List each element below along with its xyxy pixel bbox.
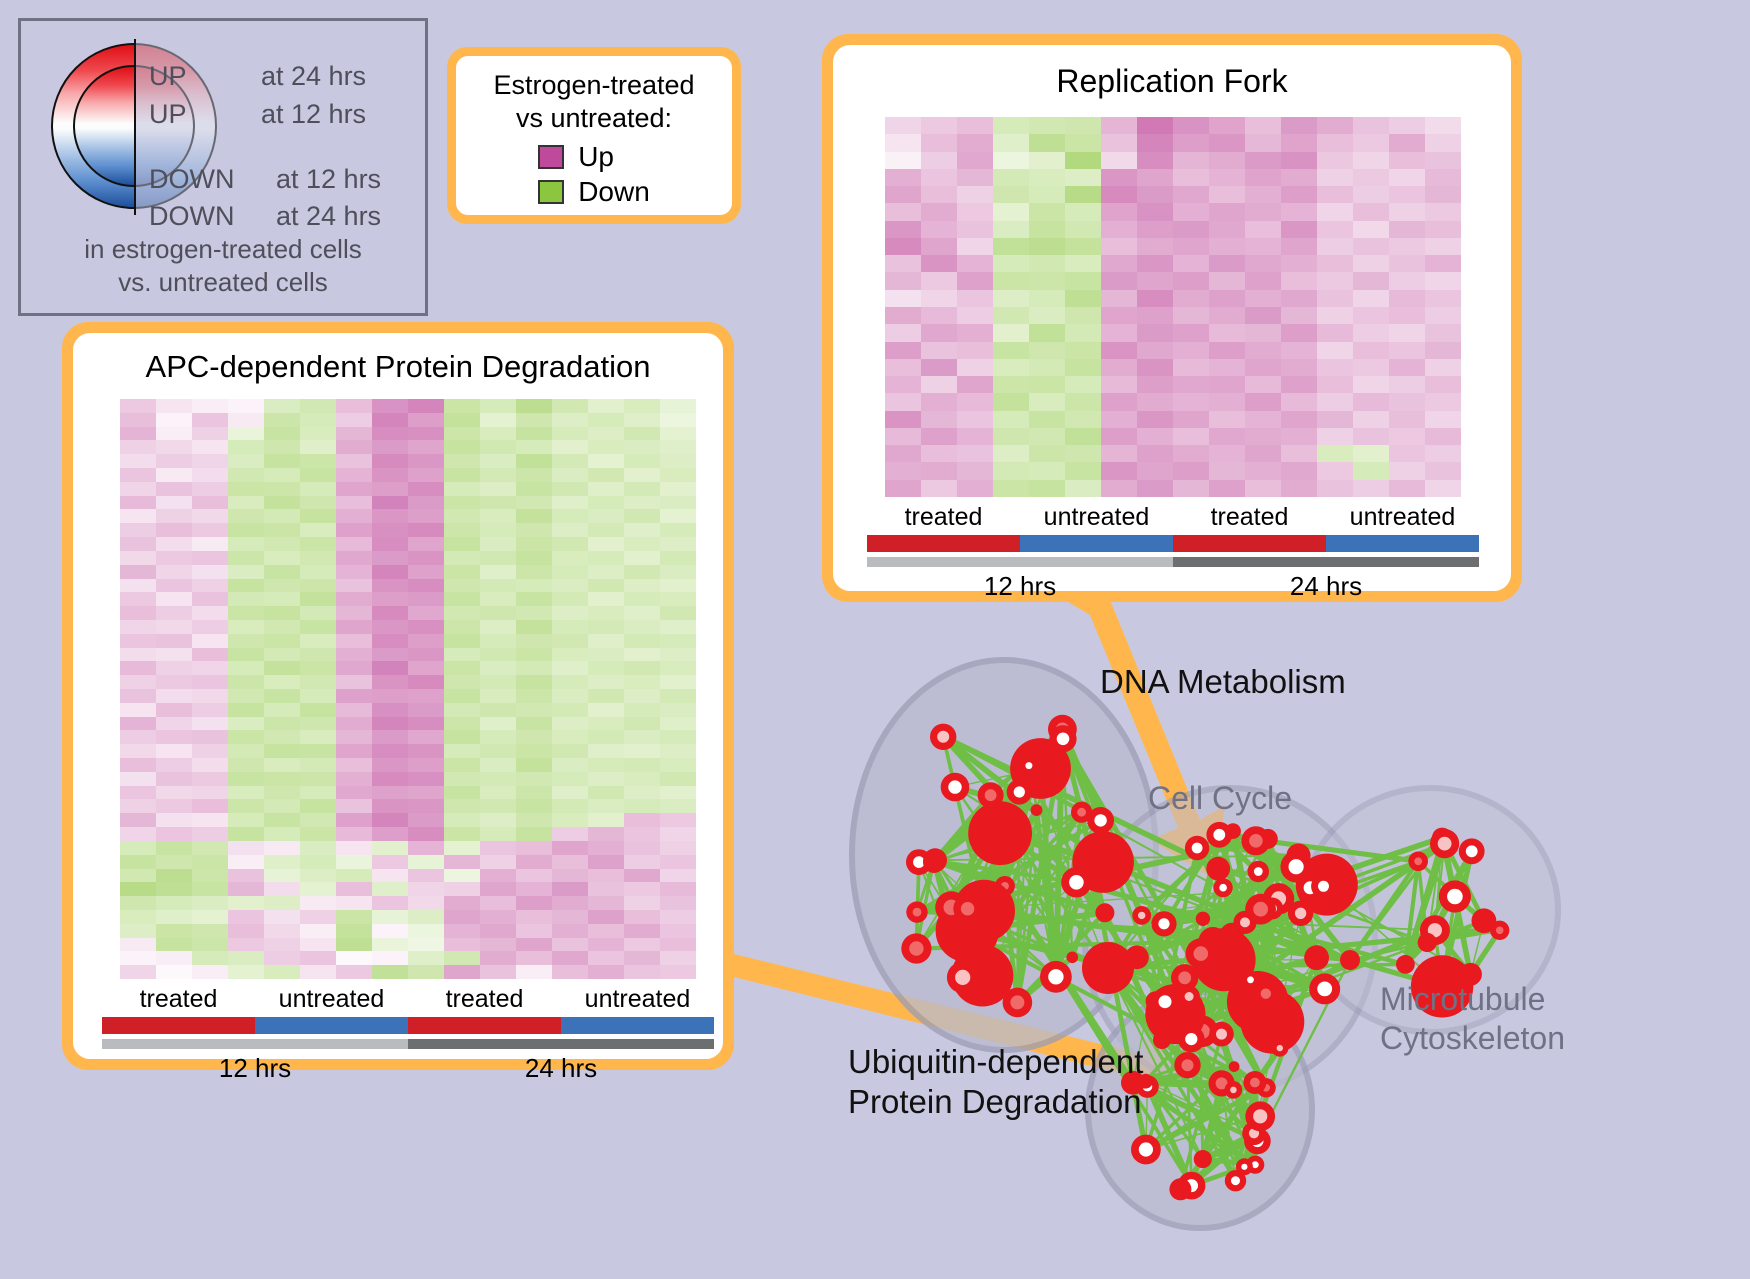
heatmap-cell — [1317, 134, 1353, 151]
heatmap-cell — [624, 620, 660, 634]
heatmap-cell — [588, 910, 624, 924]
heatmap-cell — [156, 717, 192, 731]
heatmap-cell — [552, 648, 588, 662]
heatmap-cell — [624, 855, 660, 869]
heatmap-cell — [372, 675, 408, 689]
heatmap-cell — [120, 579, 156, 593]
heatmap-cell — [1065, 272, 1101, 289]
heatmap-cell — [120, 399, 156, 413]
heatmap-cell — [408, 772, 444, 786]
heatmap-cell — [444, 551, 480, 565]
heatmap-cell — [264, 496, 300, 510]
network-node-core — [1414, 857, 1422, 865]
heatmap-cell — [264, 841, 300, 855]
heatmap-cell — [1029, 117, 1065, 134]
heatmap-cell — [552, 551, 588, 565]
network-node-core — [1216, 1029, 1227, 1040]
heatmap-cell — [516, 965, 552, 979]
heatmap-cell — [1245, 480, 1281, 497]
heatmap-cell — [660, 661, 696, 675]
heatmap-cell — [1317, 152, 1353, 169]
heatmap-cell — [372, 413, 408, 427]
heatmap-cell — [120, 869, 156, 883]
heatmap-cell — [552, 427, 588, 441]
heatmap-cell — [1245, 342, 1281, 359]
heatmap-cell — [1245, 411, 1281, 428]
heatmap-cell — [444, 579, 480, 593]
heatmap-cell — [480, 758, 516, 772]
heatmap-cell — [516, 786, 552, 800]
heatmap-cell — [120, 813, 156, 827]
heatmap-cell — [1281, 480, 1317, 497]
heatmap-cell — [660, 454, 696, 468]
heatmap-cell — [516, 399, 552, 413]
heatmap-cell — [624, 675, 660, 689]
heatmap-cell — [1425, 393, 1461, 410]
heatmap-cell — [408, 938, 444, 952]
heatmap-cell — [156, 965, 192, 979]
apc-col-3: untreated — [561, 985, 714, 1014]
heatmap-cell — [156, 924, 192, 938]
rf-bar-0 — [867, 535, 1020, 552]
heatmap-cell — [921, 480, 957, 497]
heatmap-cell — [660, 813, 696, 827]
heatmap-cell — [192, 869, 228, 883]
network-node-core — [1230, 1087, 1237, 1094]
heatmap-cell — [1137, 238, 1173, 255]
heatmap-cell — [480, 509, 516, 523]
heatmap-cell — [1317, 393, 1353, 410]
heatmap-cell — [1389, 462, 1425, 479]
heatmap-cell — [264, 744, 300, 758]
heatmap-cell — [588, 440, 624, 454]
heatmap-cell — [1317, 255, 1353, 272]
heatmap-cell — [1173, 186, 1209, 203]
heatmap-cell — [957, 411, 993, 428]
heatmap-cell — [1065, 393, 1101, 410]
heatmap-cell — [480, 620, 516, 634]
heatmap-cell — [120, 717, 156, 731]
heatmap-cell — [993, 480, 1029, 497]
heatmap-cell — [156, 482, 192, 496]
heatmap-cell — [192, 427, 228, 441]
heatmap-cell — [480, 965, 516, 979]
heatmap-cell — [552, 799, 588, 813]
heatmap-cell — [444, 758, 480, 772]
network-node — [1169, 1178, 1191, 1200]
heatmap-cell — [264, 799, 300, 813]
legend-key-up: Up — [538, 141, 650, 173]
heatmap-cell — [192, 717, 228, 731]
heatmap-cell — [1101, 393, 1137, 410]
heatmap-cell — [624, 910, 660, 924]
heatmap-cell — [156, 551, 192, 565]
column-names-apc: treated untreated treated untreated — [102, 985, 714, 1014]
ubiquitin-label-line1: Ubiquitin-dependent — [848, 1042, 1143, 1082]
heatmap-cell — [1245, 134, 1281, 151]
heatmap-cell — [444, 468, 480, 482]
heatmap-cell — [300, 496, 336, 510]
heatmap-cell — [993, 169, 1029, 186]
heatmap-cell — [264, 606, 300, 620]
heatmap-cell — [336, 675, 372, 689]
heatmap-cell — [1101, 186, 1137, 203]
rf-time-1: 24 hrs — [1173, 571, 1479, 602]
heatmap-cell — [552, 910, 588, 924]
heatmap-cell — [444, 661, 480, 675]
heatmap-cell — [120, 896, 156, 910]
heatmap-cell — [885, 428, 921, 445]
heatmap-cell — [552, 717, 588, 731]
heatmap-cell — [120, 496, 156, 510]
heatmap-cell — [120, 799, 156, 813]
heatmap-cell — [1029, 428, 1065, 445]
heatmap-cell — [1281, 359, 1317, 376]
network-node — [1304, 945, 1329, 970]
heatmap-cell — [372, 758, 408, 772]
heatmap-cell — [192, 468, 228, 482]
heatmap-cell — [300, 855, 336, 869]
heatmap-cell — [516, 468, 552, 482]
heatmap-cell — [408, 855, 444, 869]
heatmap-cell — [300, 592, 336, 606]
heatmap-cell — [120, 413, 156, 427]
network-node-core — [1057, 733, 1070, 746]
heatmap-cell — [588, 620, 624, 634]
heatmap-cell — [1245, 428, 1281, 445]
heatmap-cell — [1425, 324, 1461, 341]
heatmap-cell — [1173, 376, 1209, 393]
heatmap-cell — [552, 454, 588, 468]
heatmap-cell — [1353, 411, 1389, 428]
heatmap-cell — [372, 799, 408, 813]
heatmap-cell — [300, 454, 336, 468]
heatmap-cell — [1281, 411, 1317, 428]
heatmap-cell — [1065, 480, 1101, 497]
heatmap-cell — [408, 482, 444, 496]
network-node-core — [1253, 1109, 1267, 1123]
heatmap-cell — [588, 509, 624, 523]
heatmap-cell — [264, 592, 300, 606]
heatmap-cell — [885, 290, 921, 307]
heatmap-cell — [1353, 342, 1389, 359]
heatmap-cell — [1137, 117, 1173, 134]
heatmap-cell — [120, 523, 156, 537]
heatmap-cell — [120, 910, 156, 924]
heatmap-cell — [993, 324, 1029, 341]
heatmap-cell — [408, 965, 444, 979]
heatmap-cell — [1425, 255, 1461, 272]
heatmap-cell — [624, 689, 660, 703]
heatmap-cell — [1425, 152, 1461, 169]
heatmap-cell — [156, 496, 192, 510]
heatmap-cell — [480, 427, 516, 441]
heatmap-cell — [1389, 376, 1425, 393]
up-down-legend: Estrogen-treated vs untreated: Up Down — [447, 47, 741, 224]
heatmap-cell — [336, 413, 372, 427]
network-node — [1340, 950, 1360, 970]
heatmap-cell — [660, 703, 696, 717]
heatmap-cell — [993, 272, 1029, 289]
heatmap-cell — [120, 730, 156, 744]
heatmap-cell — [1317, 342, 1353, 359]
heatmap-cell — [993, 428, 1029, 445]
heatmap-cell — [1245, 117, 1281, 134]
heatmap-cell — [957, 428, 993, 445]
network-node-core — [1250, 1078, 1260, 1088]
network-node-core — [1077, 808, 1086, 817]
network-node-core — [1289, 859, 1304, 874]
heatmap-cell — [552, 827, 588, 841]
heatmap-cell — [921, 428, 957, 445]
heatmap-cell — [1065, 307, 1101, 324]
heatmap-cell — [120, 772, 156, 786]
heatmap-cell — [660, 772, 696, 786]
heatmap-cell — [1209, 238, 1245, 255]
heatmap-cell — [156, 841, 192, 855]
heatmap-cell — [264, 689, 300, 703]
heatmap-cell — [408, 827, 444, 841]
heatmap-cell — [264, 427, 300, 441]
heatmap-cell — [480, 523, 516, 537]
heatmap-cell — [1389, 203, 1425, 220]
heatmap-cell — [120, 454, 156, 468]
heatmap-cell — [372, 606, 408, 620]
heatmap-cell — [1137, 152, 1173, 169]
heatmap-apc-dependent-protein-degradation — [120, 399, 696, 979]
heatmap-cell — [228, 509, 264, 523]
heatmap-cell — [264, 827, 300, 841]
heatmap-cell — [624, 454, 660, 468]
heatmap-cell — [228, 399, 264, 413]
heatmap-cell — [300, 786, 336, 800]
heatmap-cell — [1173, 134, 1209, 151]
heatmap-cell — [1029, 238, 1065, 255]
heatmap-cell — [1317, 238, 1353, 255]
heatmap-cell — [372, 468, 408, 482]
heatmap-cell — [552, 786, 588, 800]
heatmap-cell — [1281, 238, 1317, 255]
heatmap-cell — [1209, 480, 1245, 497]
heatmap-cell — [480, 910, 516, 924]
heatmap-cell — [957, 342, 993, 359]
heatmap-cell — [156, 509, 192, 523]
heatmap-cell — [885, 376, 921, 393]
heatmap-cell — [300, 509, 336, 523]
heatmap-cell — [516, 799, 552, 813]
heatmap-cell — [300, 413, 336, 427]
heatmap-cell — [480, 537, 516, 551]
timepoint-labels-replication-fork: 12 hrs 24 hrs — [867, 571, 1479, 602]
network-node-core — [1249, 834, 1263, 848]
heatmap-cell — [336, 689, 372, 703]
heatmap-cell — [444, 634, 480, 648]
microtubule-label-line2: Cytoskeleton — [1380, 1019, 1565, 1058]
heatmap-cell — [552, 606, 588, 620]
heatmap-cell — [1173, 152, 1209, 169]
heatmap-cell — [660, 799, 696, 813]
heatmap-cell — [660, 620, 696, 634]
heatmap-cell — [921, 169, 957, 186]
heatmap-cell — [120, 938, 156, 952]
heatmap-cell — [516, 648, 552, 662]
heatmap-cell — [552, 413, 588, 427]
heatmap-cell — [957, 152, 993, 169]
cluster-label-ubiquitin-dependent-protein-degradation: Ubiquitin-dependent Protein Degradation — [848, 1042, 1143, 1123]
heatmap-cell — [336, 606, 372, 620]
heatmap-cell — [192, 896, 228, 910]
heatmap-cell — [993, 221, 1029, 238]
heatmap-cell — [1209, 411, 1245, 428]
heatmap-cell — [588, 537, 624, 551]
heatmap-cell — [1317, 203, 1353, 220]
heatmap-cell — [336, 537, 372, 551]
heatmap-cell — [444, 799, 480, 813]
heatmap-cell — [336, 592, 372, 606]
heatmap-cell — [516, 509, 552, 523]
heatmap-cell — [480, 951, 516, 965]
heatmap-cell — [1353, 393, 1389, 410]
heatmap-cell — [444, 896, 480, 910]
heatmap-cell — [660, 744, 696, 758]
heatmap-cell — [372, 938, 408, 952]
heatmap-cell — [408, 910, 444, 924]
down-color-swatch — [538, 180, 564, 204]
heatmap-cell — [480, 703, 516, 717]
heatmap-cell — [192, 592, 228, 606]
heatmap-cell — [192, 965, 228, 979]
heatmap-cell — [588, 799, 624, 813]
heatmap-cell — [228, 482, 264, 496]
heatmap-cell — [408, 413, 444, 427]
heatmap-cell — [660, 606, 696, 620]
heatmap-cell — [588, 869, 624, 883]
heatmap-cell — [624, 413, 660, 427]
heatmap-cell — [480, 938, 516, 952]
heatmap-cell — [264, 717, 300, 731]
heatmap-cell — [921, 255, 957, 272]
heatmap-cell — [1317, 428, 1353, 445]
heatmap-cell — [192, 841, 228, 855]
heatmap-cell — [444, 427, 480, 441]
network-node — [1067, 952, 1079, 964]
network-node-core — [1219, 884, 1227, 892]
heatmap-cell — [300, 924, 336, 938]
heatmap-cell — [660, 675, 696, 689]
heatmap-cell — [1029, 342, 1065, 359]
heatmap-cell — [516, 661, 552, 675]
scale-row-3-time: at 24 hrs — [276, 201, 381, 232]
heatmap-cell — [408, 882, 444, 896]
heatmap-cell — [156, 786, 192, 800]
heatmap-cell — [660, 758, 696, 772]
apc-time-bar-1 — [408, 1039, 714, 1049]
heatmap-cell — [336, 951, 372, 965]
heatmap-cell — [1173, 238, 1209, 255]
heatmap-cell — [228, 579, 264, 593]
rf-time-bar-0 — [867, 557, 1173, 567]
heatmap-cell — [300, 896, 336, 910]
heatmap-cell — [921, 359, 957, 376]
heatmap-cell — [1389, 393, 1425, 410]
heatmap-cell — [1317, 221, 1353, 238]
heatmap-cell — [588, 413, 624, 427]
network-node-core — [1010, 995, 1024, 1009]
heatmap-cell — [120, 703, 156, 717]
network-node — [1396, 955, 1415, 974]
heatmap-cell — [1173, 117, 1209, 134]
heatmap-cell — [921, 290, 957, 307]
heatmap-cell — [993, 445, 1029, 462]
heatmap-cell — [552, 661, 588, 675]
heatmap-cell — [957, 272, 993, 289]
network-node-core — [1069, 875, 1084, 890]
heatmap-cell — [336, 523, 372, 537]
heatmap-cell — [1101, 221, 1137, 238]
heatmap-cell — [264, 565, 300, 579]
heatmap-cell — [1425, 134, 1461, 151]
heatmap-cell — [372, 896, 408, 910]
heatmap-cell — [192, 758, 228, 772]
heatmap-cell — [192, 910, 228, 924]
heatmap-cell — [552, 730, 588, 744]
heatmap-cell — [228, 827, 264, 841]
network-node-core — [1241, 1164, 1247, 1170]
heatmap-cell — [1137, 462, 1173, 479]
heatmap-cell — [1245, 324, 1281, 341]
heatmap-cell — [444, 951, 480, 965]
heatmap-cell — [1353, 152, 1389, 169]
heatmap-cell — [885, 324, 921, 341]
heatmap-cell — [588, 841, 624, 855]
heatmap-cell — [372, 744, 408, 758]
heatmap-cell — [336, 482, 372, 496]
heatmap-cell — [1101, 307, 1137, 324]
heatmap-cell — [372, 730, 408, 744]
heatmap-cell — [264, 965, 300, 979]
heatmap-cell — [588, 717, 624, 731]
heatmap-cell — [552, 938, 588, 952]
heatmap-cell — [1101, 152, 1137, 169]
heatmap-cell — [156, 413, 192, 427]
heatmap-cell — [300, 606, 336, 620]
heatmap-cell — [1137, 445, 1173, 462]
heatmap-cell — [885, 169, 921, 186]
heatmap-cell — [408, 744, 444, 758]
heatmap-cell — [624, 703, 660, 717]
heatmap-cell — [264, 730, 300, 744]
heatmap-cell — [480, 454, 516, 468]
heatmap-cell — [192, 730, 228, 744]
apc-bar-1 — [255, 1017, 408, 1034]
heatmap-cell — [1209, 221, 1245, 238]
heatmap-cell — [516, 634, 552, 648]
heatmap-cell — [1317, 376, 1353, 393]
heatmap-cell — [1317, 445, 1353, 462]
heatmap-cell — [156, 827, 192, 841]
heatmap-cell — [444, 855, 480, 869]
heatmap-cell — [408, 551, 444, 565]
heatmap-cell — [480, 661, 516, 675]
heatmap-cell — [480, 440, 516, 454]
heatmap-cell — [660, 551, 696, 565]
heatmap-cell — [1065, 342, 1101, 359]
heatmap-cell — [1173, 393, 1209, 410]
heatmap-cell — [156, 855, 192, 869]
heatmap-cell — [624, 427, 660, 441]
heatmap-cell — [408, 758, 444, 772]
color-scale-legend: UP at 24 hrs UP at 12 hrs DOWN at 12 hrs… — [18, 18, 428, 316]
